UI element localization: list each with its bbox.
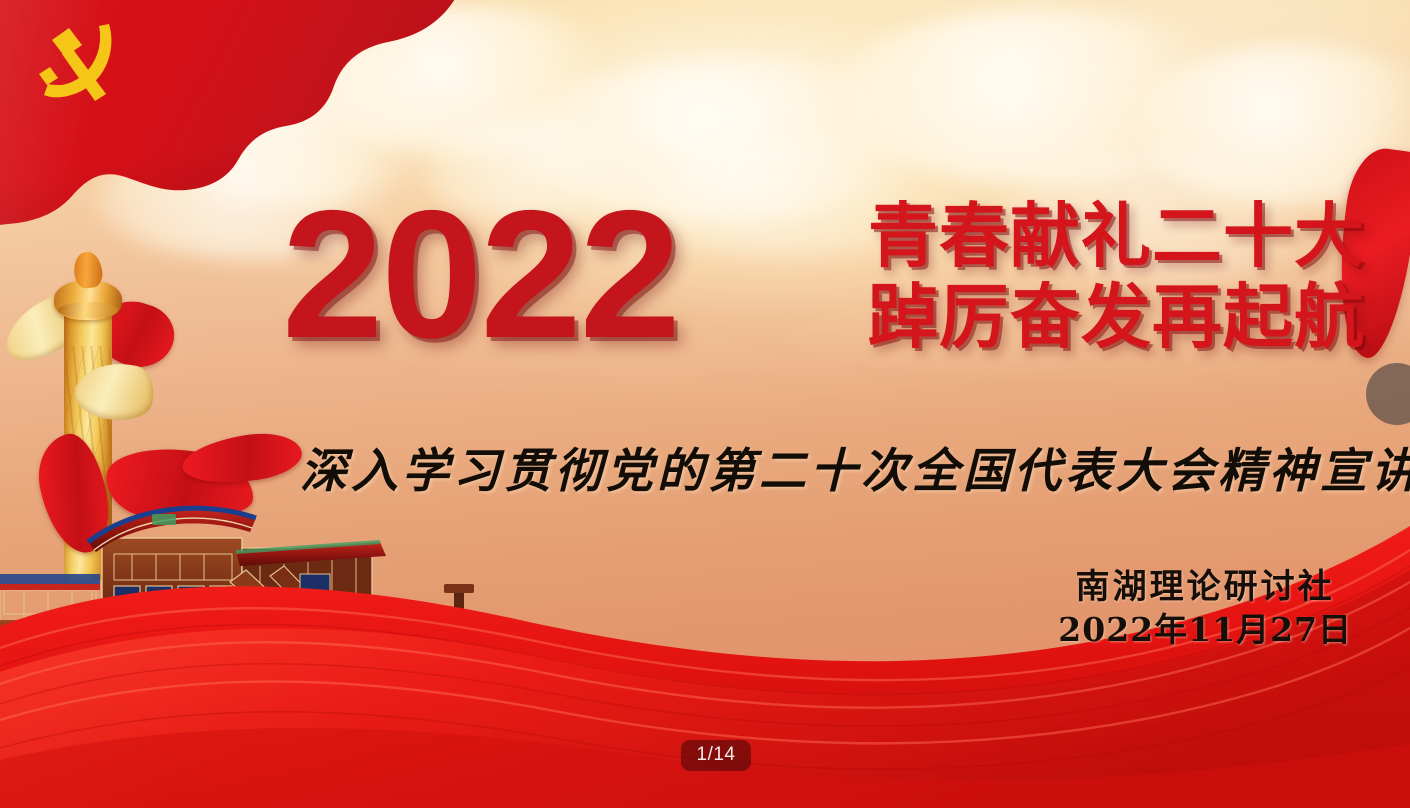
hammer-sickle-icon bbox=[22, 14, 130, 118]
headline: 青春献礼二十大 踔厉奋发再起航 bbox=[868, 196, 1396, 358]
presentation-slide: 2022 青春献礼二十大 踔厉奋发再起航 深入学习贯彻党的第二十次全国代表大会精… bbox=[0, 0, 1410, 808]
subtitle: 深入学习贯彻党的第二十次全国代表大会精神宣讲 bbox=[300, 446, 1400, 498]
year-title: 2022 bbox=[282, 183, 679, 365]
organization-name: 南湖理论研讨社 bbox=[1058, 566, 1352, 609]
headline-line-2: 踔厉奋发再起航 bbox=[868, 277, 1396, 358]
page-indicator[interactable]: 1/14 bbox=[681, 740, 751, 771]
byline: 南湖理论研讨社 2022年11月27日 bbox=[1058, 566, 1352, 651]
presentation-date: 2022年11月27日 bbox=[1058, 609, 1352, 652]
headline-line-1: 青春献礼二十大 bbox=[868, 196, 1396, 277]
column-ring bbox=[58, 302, 118, 318]
